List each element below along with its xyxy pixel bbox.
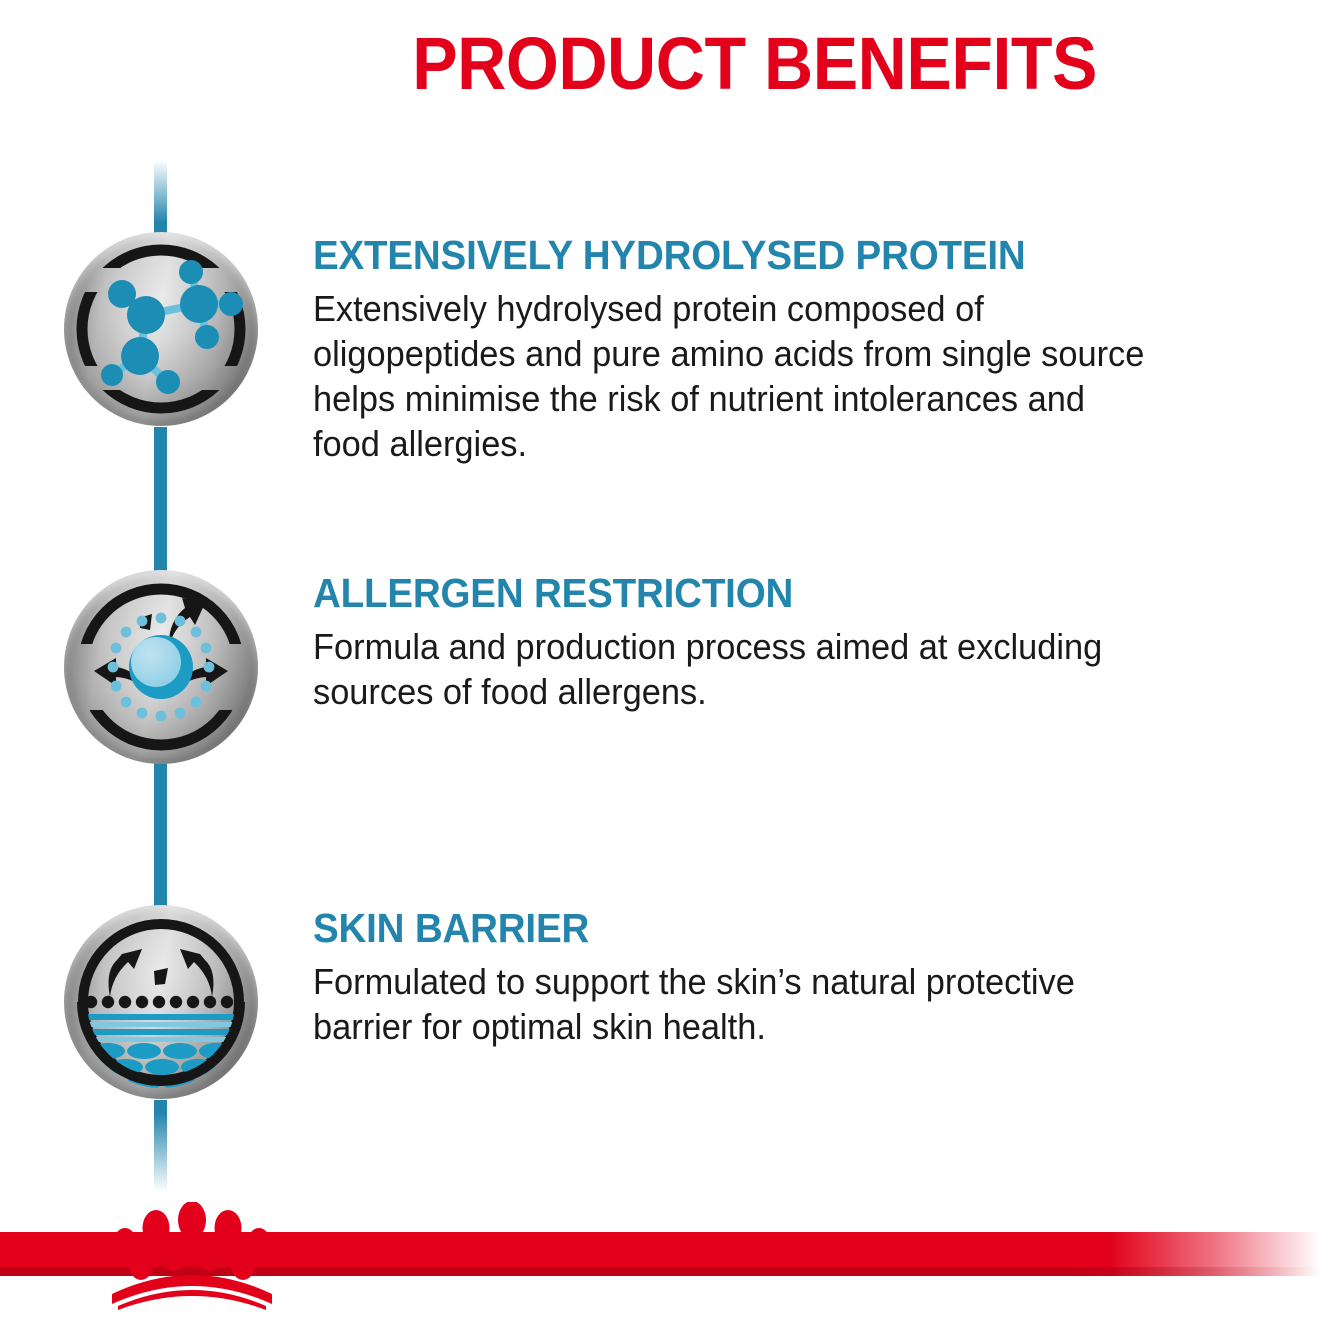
benefit-text-block: SKIN BARRIER Formulated to support the s… xyxy=(313,905,1288,1049)
connector-line-bottom xyxy=(154,1100,167,1192)
allergen-restriction-icon xyxy=(64,570,258,764)
benefit-text-block: ALLERGEN RESTRICTION Formula and product… xyxy=(313,570,1288,714)
connector-line-top xyxy=(154,160,167,240)
benefit-body: Formulated to support the skin’s natural… xyxy=(313,959,1244,1049)
connector-line-segment-2 xyxy=(154,762,167,917)
product-benefits-page: PRODUCT BENEFITS xyxy=(0,0,1320,1320)
molecule-icon xyxy=(64,232,258,426)
benefit-body: Formula and production process aimed at … xyxy=(313,624,1244,714)
connector-line-segment-1 xyxy=(154,427,167,582)
benefit-heading: EXTENSIVELY HYDROLYSED PROTEIN xyxy=(313,232,1230,278)
benefit-heading: SKIN BARRIER xyxy=(313,905,1230,951)
benefit-text-block: EXTENSIVELY HYDROLYSED PROTEIN Extensive… xyxy=(313,232,1288,466)
benefit-heading: ALLERGEN RESTRICTION xyxy=(313,570,1230,616)
page-title: PRODUCT BENEFITS xyxy=(313,22,1196,106)
skin-barrier-icon xyxy=(64,905,258,1099)
royal-canin-crown-logo xyxy=(96,1202,288,1310)
benefit-body: Extensively hydrolysed protein composed … xyxy=(313,286,1244,466)
